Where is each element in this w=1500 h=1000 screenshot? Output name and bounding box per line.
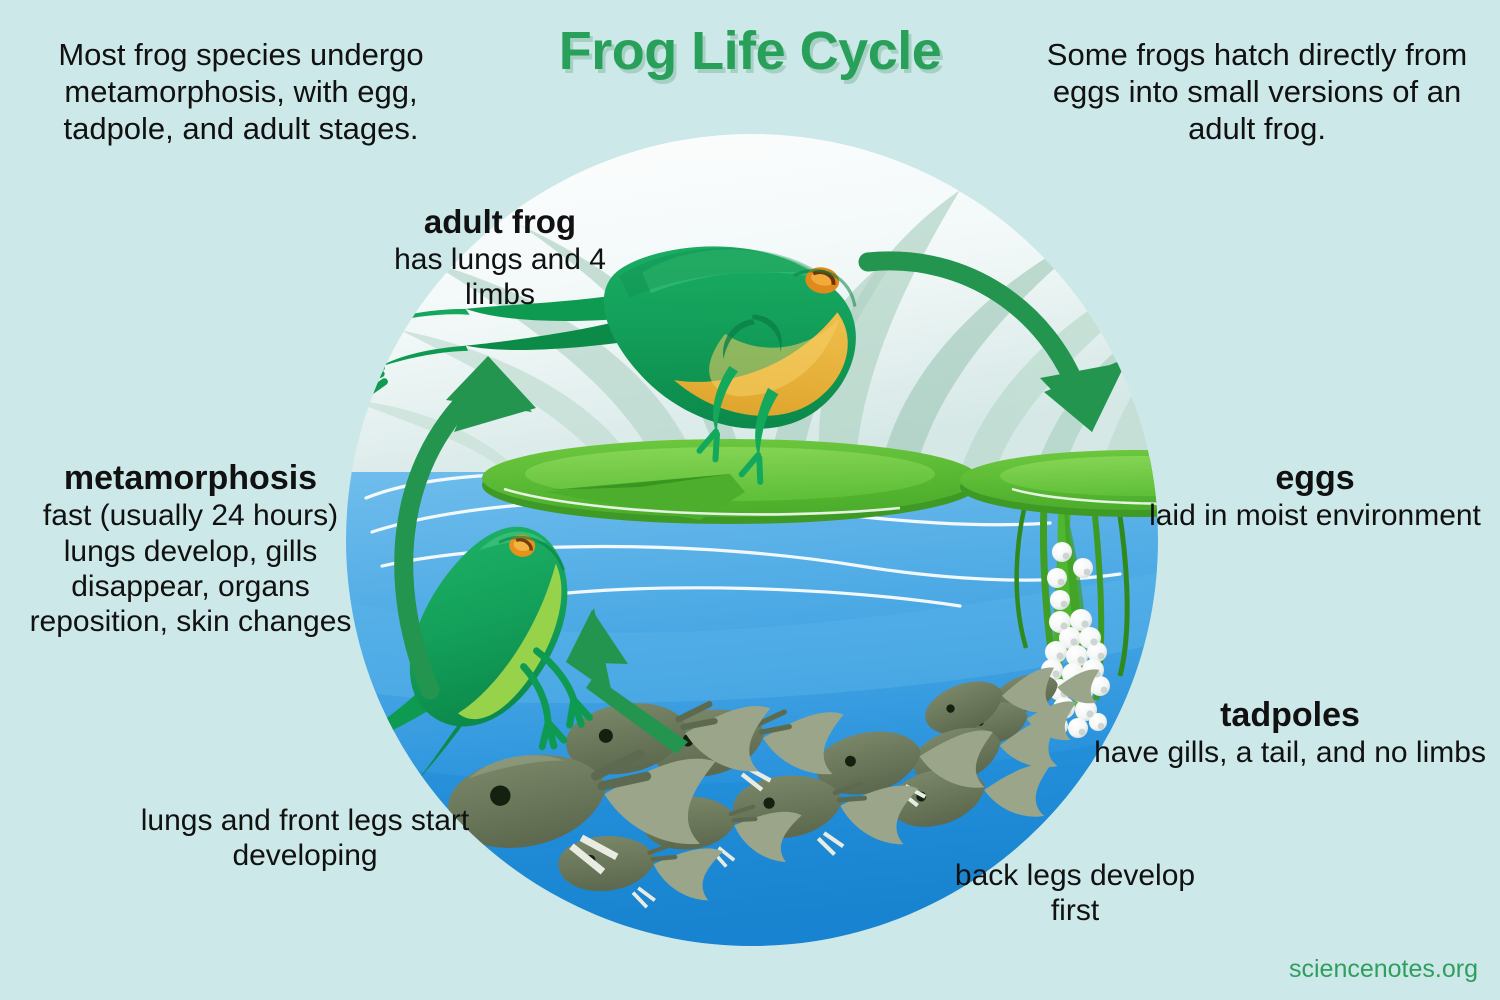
caption-right: Some frogs hatch directly from eggs into…	[1022, 36, 1492, 148]
label-adult-frog: adult frog has lungs and 4 limbs	[355, 203, 645, 313]
page-title: Frog Life Cycle	[450, 24, 1050, 78]
label-metamorphosis-body: fast (usually 24 hours) lungs develop, g…	[8, 498, 373, 640]
label-eggs: eggs laid in moist environment	[1135, 458, 1495, 534]
label-adult-frog-heading: adult frog	[355, 203, 645, 242]
label-metamorphosis: metamorphosis fast (usually 24 hours) lu…	[8, 458, 373, 640]
label-tadpoles: tadpoles have gills, a tail, and no limb…	[1090, 695, 1490, 771]
label-adult-frog-body: has lungs and 4 limbs	[355, 242, 645, 313]
label-tadpoles-body: have gills, a tail, and no limbs	[1090, 735, 1490, 770]
lily-pad-left	[482, 439, 978, 524]
label-metamorphosis-heading: metamorphosis	[8, 458, 373, 498]
label-eggs-heading: eggs	[1135, 458, 1495, 498]
infographic-canvas: Frog Life Cycle Most frog species underg…	[0, 0, 1500, 1000]
label-lungs-front-legs: lungs and front legs start developing	[110, 803, 500, 874]
label-eggs-body: laid in moist environment	[1135, 498, 1495, 533]
watermark-sciencenotes: sciencenotes.org	[1289, 955, 1478, 984]
label-tadpoles-heading: tadpoles	[1090, 695, 1490, 735]
label-back-legs: back legs develop first	[930, 858, 1220, 929]
caption-left: Most frog species undergo metamorphosis,…	[6, 36, 476, 148]
